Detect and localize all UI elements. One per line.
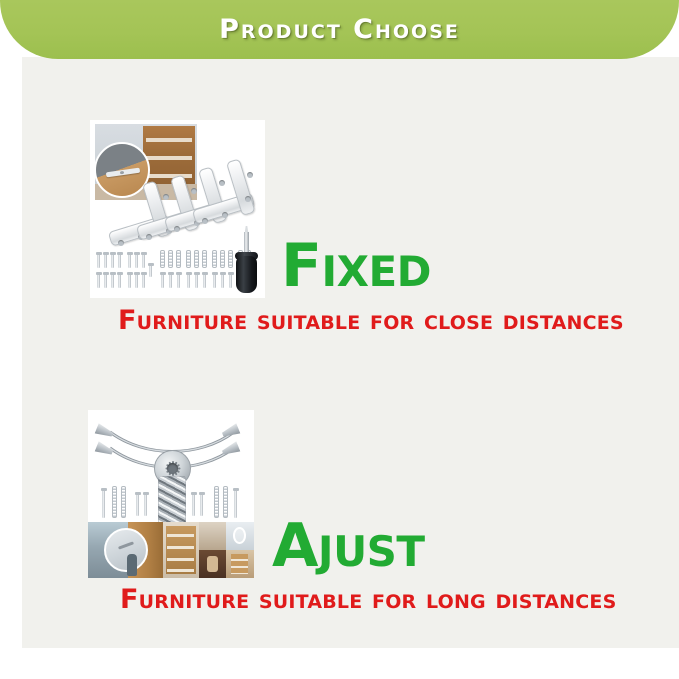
product-subtitle-fixed: Furniture suitable for close distances [118, 307, 624, 334]
collage-cell-cabinet [199, 522, 226, 578]
collage-cell-wall-anchor [88, 522, 163, 578]
product-block-fixed: Fixed [90, 120, 431, 298]
product-row-fixed: Fixed [90, 120, 431, 298]
product-headline-fixed: Fixed [281, 236, 431, 296]
collage-cell-mirror [226, 522, 254, 578]
collage-cell-bookshelf [163, 522, 200, 578]
product-block-ajust: Ajust [88, 410, 425, 578]
corner-brace-bracket-set-photo [90, 120, 265, 298]
product-row-ajust: Ajust [88, 410, 425, 578]
application-photo-collage [88, 522, 254, 578]
page-title: Product Choose [219, 16, 460, 43]
adjustable-cable-anti-tip-kit-photo [88, 410, 254, 578]
bracket-closeup-circle-inset [94, 142, 150, 198]
header-banner: Product Choose [0, 0, 679, 59]
product-subtitle-ajust: Furniture suitable for long distances [120, 586, 616, 613]
product-headline-ajust: Ajust [272, 516, 425, 576]
page-root: Product Choose [0, 0, 679, 679]
